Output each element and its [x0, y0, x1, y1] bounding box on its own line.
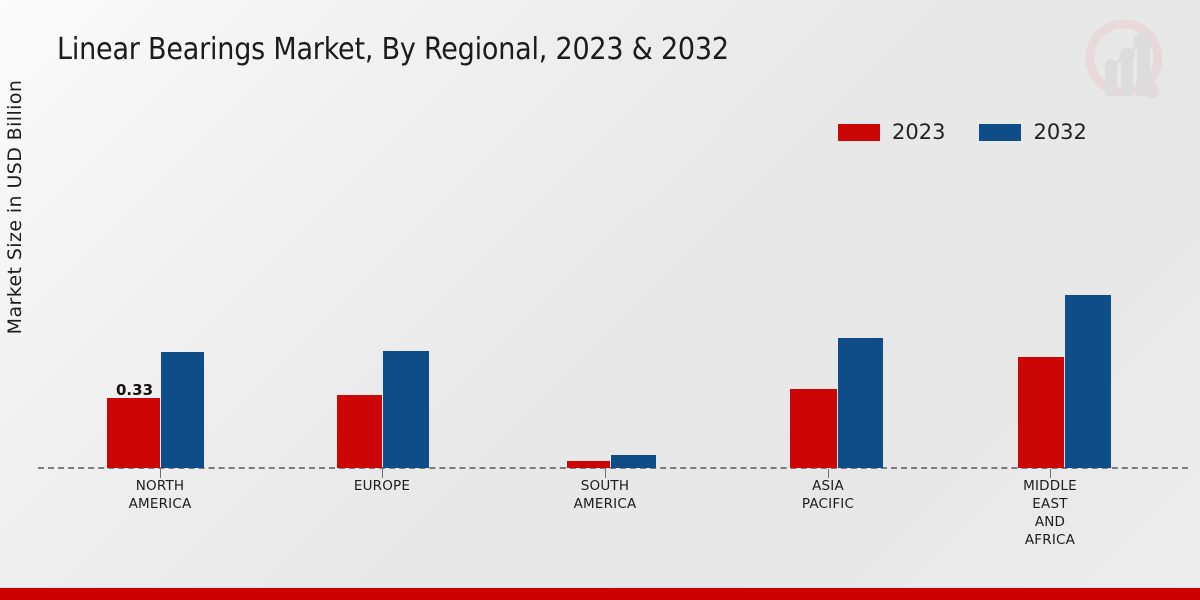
bar-2032-europe[interactable]	[383, 351, 429, 468]
x-axis-label-europe: EUROPE	[322, 477, 442, 495]
plot-area: 0.33 NORTH AMERICA EUROPE SOUTH AMERICA …	[0, 0, 1200, 600]
bar-2023-north-america[interactable]	[107, 398, 160, 468]
x-axis-label-middle-east-and-africa: MIDDLE EAST AND AFRICA	[990, 477, 1110, 549]
bar-2032-asia-pacific[interactable]	[838, 338, 883, 468]
chart-page: Linear Bearings Market, By Regional, 202…	[0, 0, 1200, 600]
bar-value-label-north-america-2023: 0.33	[116, 381, 153, 399]
bar-2032-north-america[interactable]	[161, 352, 204, 468]
bar-2023-europe[interactable]	[337, 395, 382, 468]
bar-2023-asia-pacific[interactable]	[790, 389, 837, 468]
x-axis-label-south-america: SOUTH AMERICA	[545, 477, 665, 513]
bar-2023-middle-east-and-africa[interactable]	[1018, 357, 1064, 468]
bar-2023-south-america[interactable]	[567, 461, 610, 468]
x-axis-label-north-america: NORTH AMERICA	[100, 477, 220, 513]
bar-2032-south-america[interactable]	[611, 455, 656, 468]
footer-accent-band	[0, 588, 1200, 600]
x-axis-label-asia-pacific: ASIA PACIFIC	[768, 477, 888, 513]
bar-2032-middle-east-and-africa[interactable]	[1065, 295, 1111, 468]
